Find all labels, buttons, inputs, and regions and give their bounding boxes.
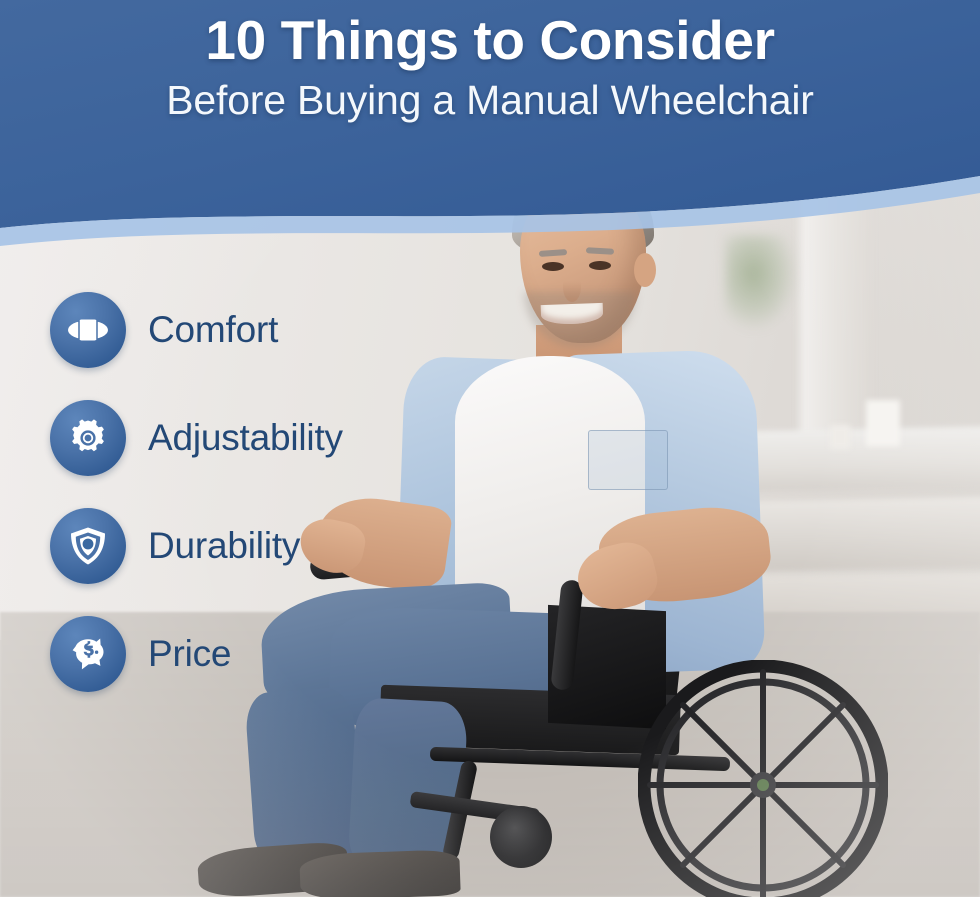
page-title: 10 Things to Consider (0, 0, 980, 70)
feature-label-adjustability: Adjustability (148, 417, 343, 459)
piggy-bank-icon (50, 616, 126, 692)
feature-label-durability: Durability (148, 525, 300, 567)
cushion-icon (50, 292, 126, 368)
feature-list: Comfort Adjustability (50, 276, 470, 708)
gear-icon (50, 400, 126, 476)
wheelchair-caster-wheel (490, 806, 552, 868)
wheelchair-infographic: 10 Things to Consider Before Buying a Ma… (0, 0, 980, 897)
man-eye-right (589, 261, 611, 270)
paper-shape (866, 400, 900, 446)
plant-shape (725, 235, 797, 330)
pillar-shape (800, 180, 870, 450)
page-subtitle: Before Buying a Manual Wheelchair (0, 70, 980, 123)
header-text-block: 10 Things to Consider Before Buying a Ma… (0, 0, 980, 170)
man-shoe-right (299, 849, 461, 897)
feature-item-comfort[interactable]: Comfort (50, 276, 470, 384)
feature-item-durability[interactable]: Durability (50, 492, 470, 600)
wheelchair-rear-wheel (638, 660, 888, 897)
man-shirt-pocket (588, 430, 668, 490)
man-ear (634, 253, 656, 287)
jar-shape (830, 425, 850, 449)
shield-icon (50, 508, 126, 584)
man-eye-left (542, 262, 564, 271)
feature-label-price: Price (148, 633, 231, 675)
feature-item-price[interactable]: Price (50, 600, 470, 708)
feature-item-adjustability[interactable]: Adjustability (50, 384, 470, 492)
feature-label-comfort: Comfort (148, 309, 278, 351)
man-nose (563, 272, 581, 302)
man-shin-left (244, 686, 364, 863)
